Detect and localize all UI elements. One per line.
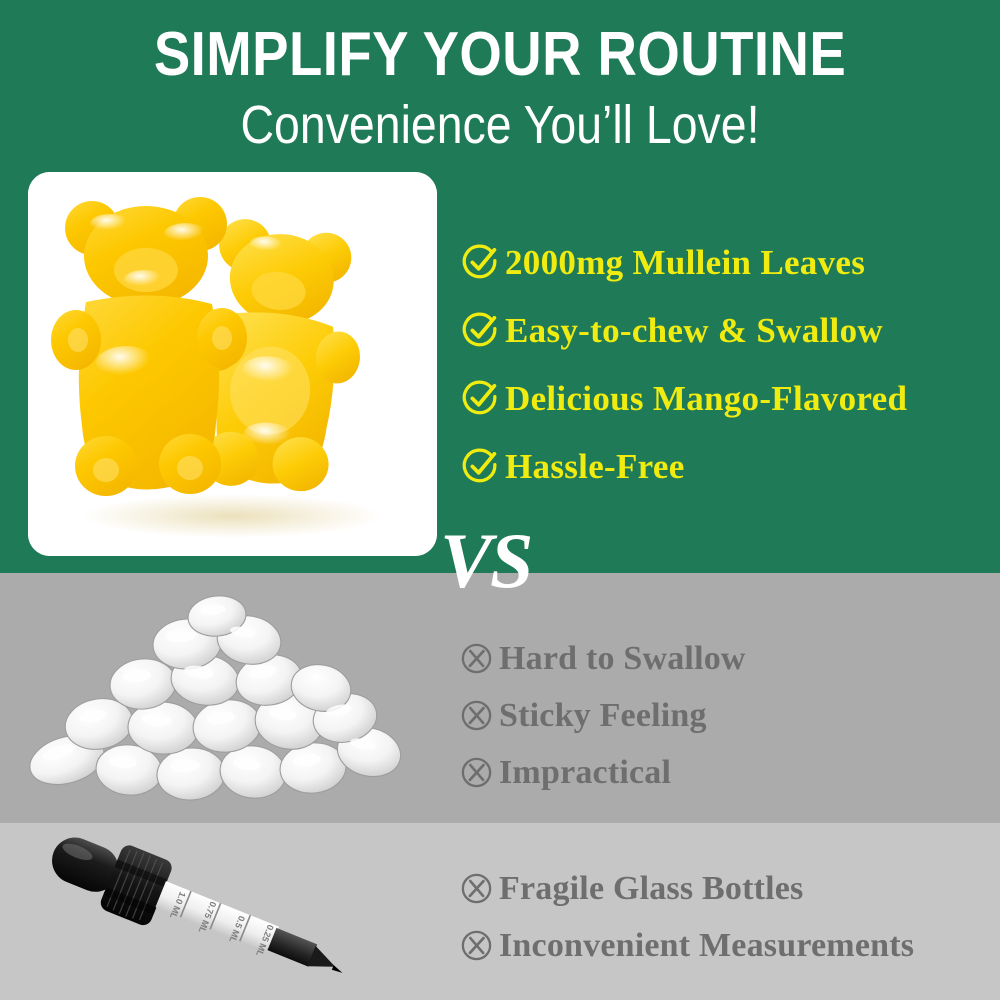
benefit-label: 2000mg Mullein Leaves — [505, 245, 865, 280]
glass-dropper-image: 1.0 ML 0.75 ML 0.5 ML 0.25 ML — [25, 832, 355, 982]
benefit-label: Hassle-Free — [505, 449, 685, 484]
softgel-drawbacks-list: Hard to Swallow Sticky Feeling Impractic… — [460, 630, 746, 801]
circled-check-icon — [462, 380, 498, 416]
product-comparison-infographic: SIMPLIFY YOUR ROUTINE Convenience You’ll… — [0, 0, 1000, 1000]
product-benefits-list: 2000mg Mullein Leaves Easy-to-chew & Swa… — [462, 228, 907, 500]
page-subtitle: Convenience You’ll Love! — [70, 98, 930, 152]
versus-label: VS — [440, 522, 531, 600]
drawback-label: Fragile Glass Bottles — [499, 872, 804, 906]
drawback-label: Hard to Swallow — [499, 642, 746, 676]
drawback-item: Fragile Glass Bottles — [460, 860, 914, 917]
benefit-item: Easy-to-chew & Swallow — [462, 296, 907, 364]
benefit-item: 2000mg Mullein Leaves — [462, 228, 907, 296]
gummy-bears-image — [28, 172, 437, 556]
benefit-item: Delicious Mango-Flavored — [462, 364, 907, 432]
circled-x-icon — [460, 872, 493, 905]
drawback-item: Inconvenient Measurements — [460, 917, 914, 974]
benefit-label: Easy-to-chew & Swallow — [505, 313, 883, 348]
drawback-item: Hard to Swallow — [460, 630, 746, 687]
benefit-item: Hassle-Free — [462, 432, 907, 500]
circled-x-icon — [460, 756, 493, 789]
circled-x-icon — [460, 699, 493, 732]
drawback-label: Impractical — [499, 756, 671, 790]
circled-check-icon — [462, 312, 498, 348]
product-photo-card — [28, 172, 437, 556]
circled-x-icon — [460, 642, 493, 675]
drawback-item: Impractical — [460, 744, 746, 801]
benefit-label: Delicious Mango-Flavored — [505, 381, 907, 416]
circled-x-icon — [460, 929, 493, 962]
page-title: SIMPLIFY YOUR ROUTINE — [60, 24, 940, 86]
circled-check-icon — [462, 448, 498, 484]
circled-check-icon — [462, 244, 498, 280]
dropper-drawbacks-list: Fragile Glass Bottles Inconvenient Measu… — [460, 860, 914, 974]
softgel-capsules-image — [25, 592, 420, 820]
drawback-item: Sticky Feeling — [460, 687, 746, 744]
drawback-label: Inconvenient Measurements — [499, 929, 914, 963]
drawback-label: Sticky Feeling — [499, 699, 707, 733]
